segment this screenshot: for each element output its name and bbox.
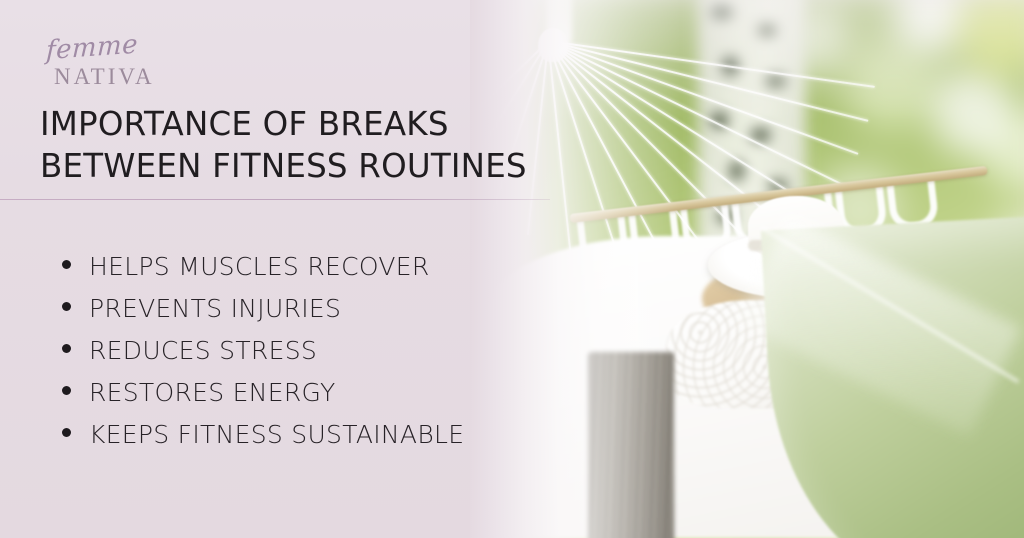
bullet-dot-icon: [62, 260, 71, 269]
list-item-label: KEEPS FITNESS SUSTAINABLE: [89, 414, 464, 456]
title-divider: [0, 199, 550, 200]
list-item: KEEPS FITNESS SUSTAINABLE: [62, 414, 464, 456]
brand-logo: femme NATIVA: [42, 36, 222, 94]
bullet-dot-icon: [62, 344, 71, 353]
bullet-dot-icon: [62, 386, 71, 395]
infographic-canvas: femme NATIVA IMPORTANCE OF BREAKS BETWEE…: [0, 0, 1024, 538]
list-item: HELPS MUSCLES RECOVER: [62, 246, 464, 288]
bullet-dot-icon: [62, 428, 71, 437]
list-item-label: REDUCES STRESS: [89, 330, 317, 372]
list-item: PREVENTS INJURIES: [62, 288, 464, 330]
brand-word-name: NATIVA: [54, 64, 155, 90]
page-title: IMPORTANCE OF BREAKS BETWEEN FITNESS ROU…: [40, 103, 560, 187]
benefits-list: HELPS MUSCLES RECOVER PREVENTS INJURIES …: [62, 246, 464, 456]
content-column: femme NATIVA IMPORTANCE OF BREAKS BETWEE…: [0, 0, 570, 538]
list-item: REDUCES STRESS: [62, 330, 464, 372]
list-item-label: HELPS MUSCLES RECOVER: [89, 246, 430, 288]
bullet-dot-icon: [62, 302, 71, 311]
brand-script-name: femme: [45, 29, 138, 66]
list-item-label: PREVENTS INJURIES: [89, 288, 341, 330]
list-item-label: RESTORES ENERGY: [89, 372, 336, 414]
list-item: RESTORES ENERGY: [62, 372, 464, 414]
